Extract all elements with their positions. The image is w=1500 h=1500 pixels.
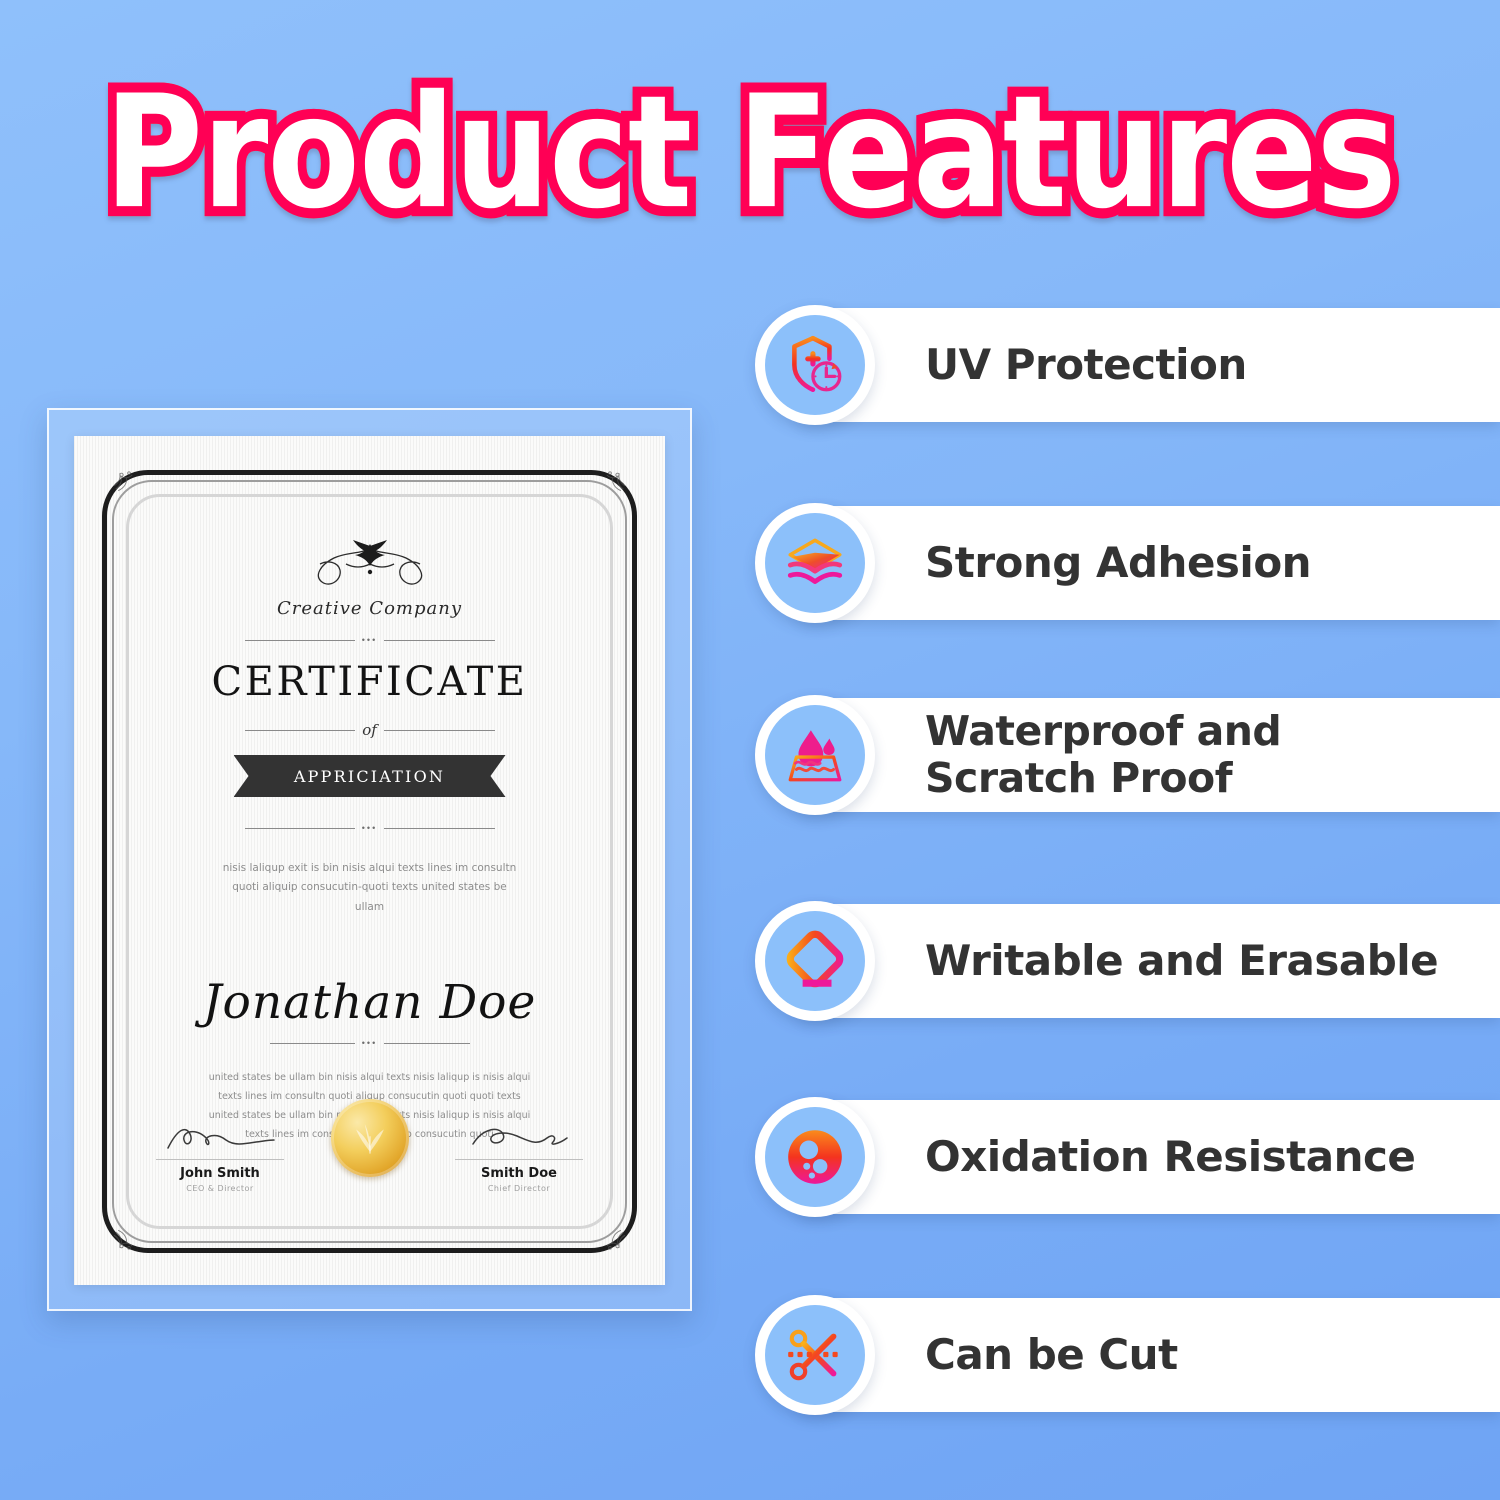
gold-seal xyxy=(331,1099,409,1177)
corner-ornament-icon xyxy=(593,464,627,494)
signature-block-left: John Smith CEO & Director xyxy=(150,1122,290,1193)
certificate-signature-row: John Smith CEO & Director xyxy=(150,1099,589,1193)
signature-role: CEO & Director xyxy=(150,1184,290,1193)
product-features-poster: Product Features Product Features Produc… xyxy=(0,0,1500,1500)
feature-label-line: Writable and Erasable xyxy=(925,937,1438,984)
water-drop-glyph xyxy=(782,722,848,788)
feature-label-line: Waterproof and xyxy=(925,708,1281,755)
feature-label: Writable and Erasable xyxy=(925,896,1438,1026)
scissors-glyph xyxy=(782,1322,848,1388)
divider-bar xyxy=(245,730,356,731)
bubbles-glyph xyxy=(782,1124,848,1190)
divider-dots-glyph: ••• xyxy=(362,1038,377,1048)
feature-label-line: UV Protection xyxy=(925,341,1247,388)
divider-bar xyxy=(384,640,494,641)
divider-of: of xyxy=(245,721,495,739)
seal-leaf-icon xyxy=(344,1112,396,1164)
feature-icon-badge xyxy=(755,901,875,1021)
signature-name: John Smith xyxy=(150,1166,290,1181)
feature-row-waterproof[interactable]: Waterproof and Scratch Proof xyxy=(755,690,1500,820)
shield-clock-glyph xyxy=(782,332,848,398)
certificate-recipient-name: Jonathan Doe xyxy=(144,975,595,1030)
feature-label: UV Protection xyxy=(925,300,1247,430)
divider-dots-glyph: ••• xyxy=(362,635,377,645)
layers-glyph xyxy=(782,530,848,596)
feature-row-uv-protection[interactable]: UV Protection xyxy=(755,300,1500,430)
feature-icon-badge xyxy=(755,503,875,623)
divider-dots: ••• xyxy=(270,1038,470,1048)
divider-dots: ••• xyxy=(245,635,495,645)
feature-label: Oxidation Resistance xyxy=(925,1092,1415,1222)
layers-icon xyxy=(765,513,865,613)
feature-row-oxidation-resistance[interactable]: Oxidation Resistance xyxy=(755,1092,1500,1222)
corner-ornament-icon xyxy=(112,464,146,494)
feature-row-strong-adhesion[interactable]: Strong Adhesion xyxy=(755,498,1500,628)
scissors-icon xyxy=(765,1305,865,1405)
feature-label-line: Oxidation Resistance xyxy=(925,1133,1415,1180)
water-drop-icon xyxy=(765,705,865,805)
certificate-company: Creative Company xyxy=(144,598,595,619)
corner-ornament-icon xyxy=(593,1227,627,1257)
certificate-paper: Creative Company ••• CERTIFICATE of APPR… xyxy=(74,436,665,1285)
certificate-product-image: Creative Company ••• CERTIFICATE of APPR… xyxy=(47,408,692,1311)
feature-row-can-be-cut[interactable]: Can be Cut xyxy=(755,1290,1500,1420)
eraser-glyph xyxy=(782,928,848,994)
page-title-fill: Product Features xyxy=(104,75,1395,231)
eraser-icon xyxy=(765,911,865,1011)
divider-bar xyxy=(384,828,494,829)
feature-label-line: Scratch Proof xyxy=(925,755,1281,802)
feature-icon-badge xyxy=(755,305,875,425)
feature-label: Strong Adhesion xyxy=(925,498,1311,628)
feature-icon-badge xyxy=(755,695,875,815)
signature-block-right: Smith Doe Chief Director xyxy=(449,1122,589,1193)
page-title: Product Features Product Features Produc… xyxy=(0,78,1500,228)
divider-bar xyxy=(245,828,355,829)
feature-list: UV Protection Strong Adhesion xyxy=(755,300,1500,1450)
signature-scribble-icon xyxy=(459,1122,579,1156)
feature-row-writable-erasable[interactable]: Writable and Erasable xyxy=(755,896,1500,1026)
certificate-ribbon: APPRICIATION xyxy=(234,755,506,797)
divider-dots-glyph: ••• xyxy=(362,823,377,833)
signature-name: Smith Doe xyxy=(449,1166,589,1181)
divider-bar xyxy=(384,730,495,731)
certificate-content: Creative Company ••• CERTIFICATE of APPR… xyxy=(144,514,595,1211)
header-flourish-icon xyxy=(250,538,490,594)
certificate-ribbon-label: APPRICIATION xyxy=(256,755,484,797)
certificate-of-label: of xyxy=(362,721,377,739)
signature-scribble-icon xyxy=(160,1122,280,1156)
divider-bar xyxy=(270,1043,355,1044)
divider-dots: ••• xyxy=(245,823,495,833)
feature-icon-badge xyxy=(755,1097,875,1217)
signature-line xyxy=(156,1159,284,1160)
feature-label-line: Strong Adhesion xyxy=(925,539,1311,586)
divider-bar xyxy=(245,640,355,641)
divider-bar xyxy=(384,1043,469,1044)
corner-ornament-icon xyxy=(112,1227,146,1257)
feature-label: Can be Cut xyxy=(925,1290,1178,1420)
signature-role: Chief Director xyxy=(449,1184,589,1193)
feature-label-line: Can be Cut xyxy=(925,1331,1178,1378)
shield-clock-icon xyxy=(765,315,865,415)
bubbles-circle-icon xyxy=(765,1107,865,1207)
feature-icon-badge xyxy=(755,1295,875,1415)
certificate-intro-text: nisis laliqup exit is bin nisis alqui te… xyxy=(220,859,520,917)
certificate-heading: CERTIFICATE xyxy=(144,659,595,705)
feature-label: Waterproof and Scratch Proof xyxy=(925,690,1281,820)
signature-line xyxy=(455,1159,583,1160)
